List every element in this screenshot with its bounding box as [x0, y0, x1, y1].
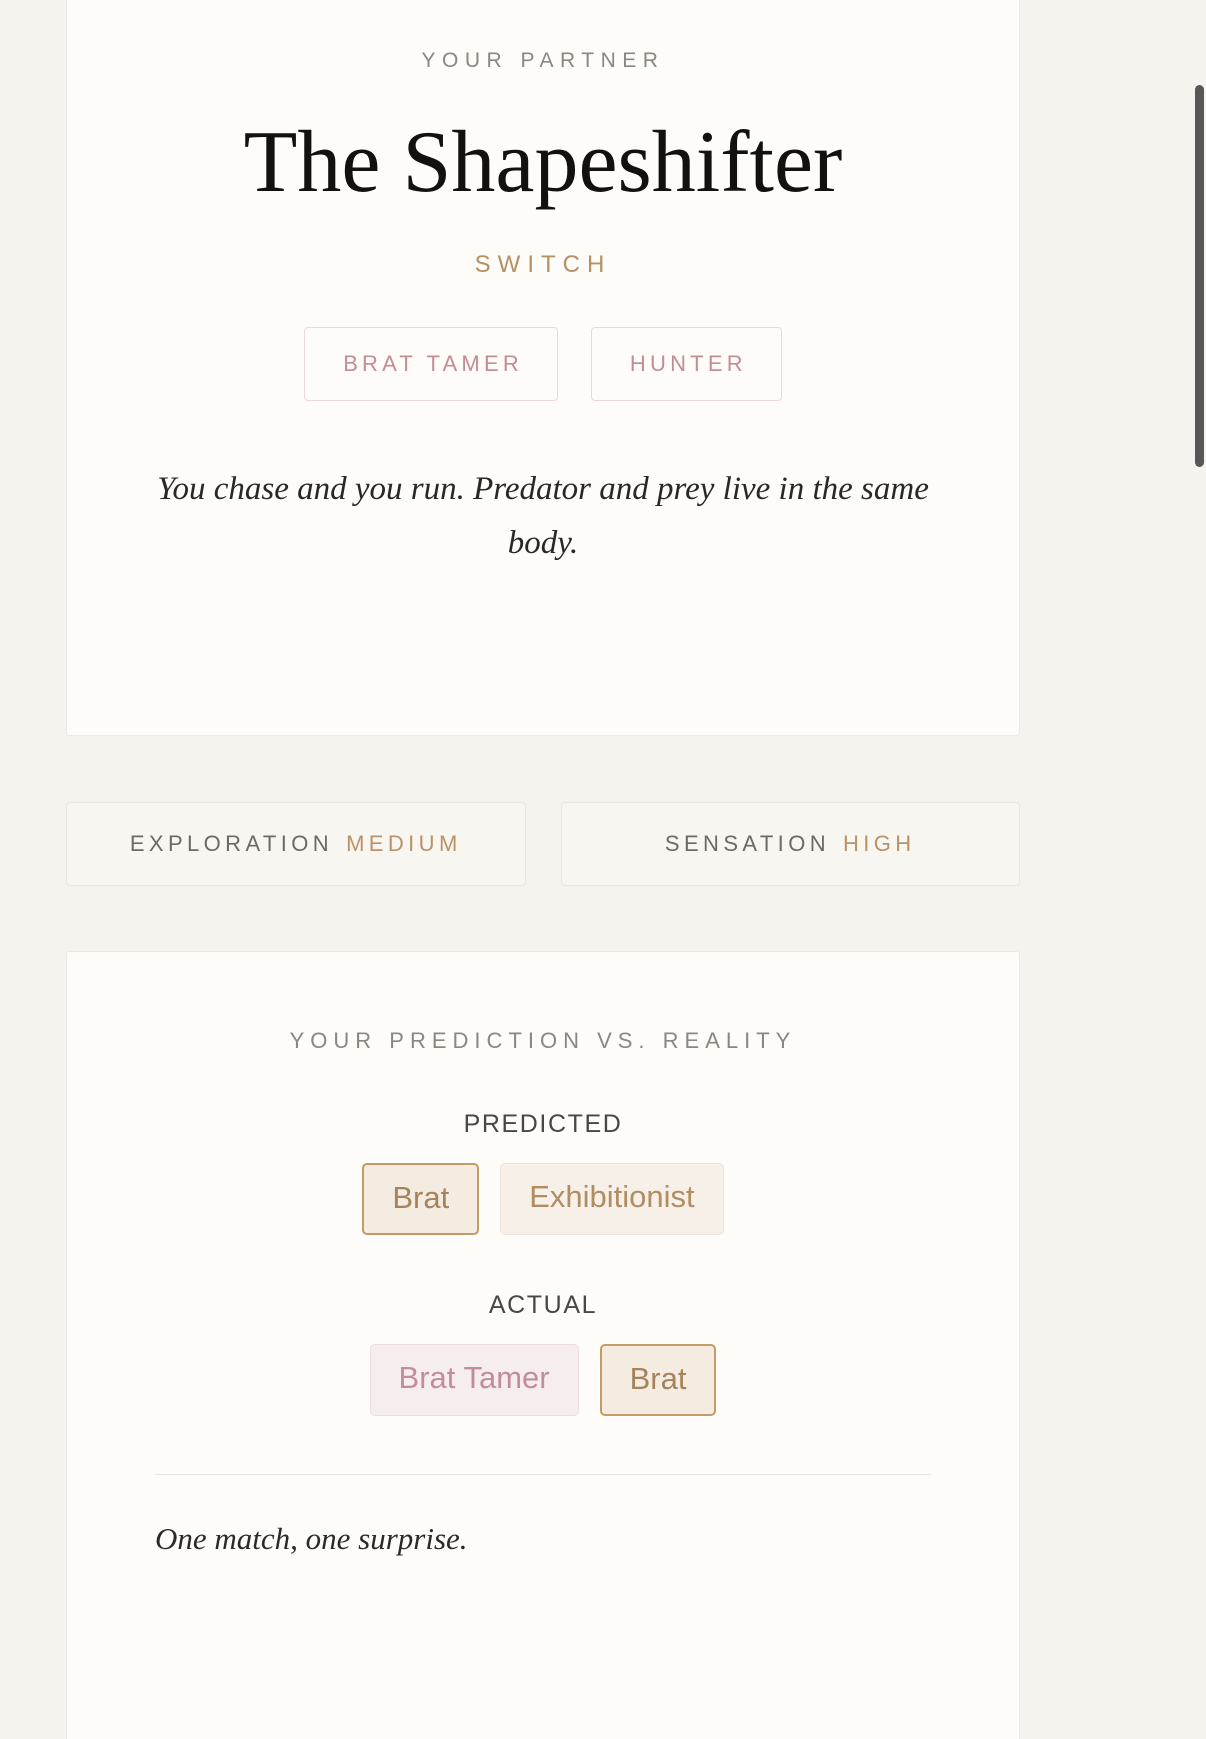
- stat-box-exploration: EXPLORATION MEDIUM: [66, 802, 526, 886]
- prediction-footnote: One match, one surprise.: [155, 1521, 1019, 1557]
- stat-box-sensation: SENSATION HIGH: [561, 802, 1021, 886]
- prediction-card: YOUR PREDICTION VS. REALITY PREDICTED Br…: [66, 951, 1020, 1739]
- stat-label-sensation: SENSATION: [665, 831, 830, 857]
- partner-name: The Shapeshifter: [67, 117, 1019, 209]
- role-chip-brat-tamer[interactable]: BRAT TAMER: [304, 327, 558, 401]
- role-chip-hunter[interactable]: HUNTER: [591, 327, 782, 401]
- partner-role-list: BRAT TAMER HUNTER: [67, 327, 1019, 401]
- actual-chip-brat-tamer[interactable]: Brat Tamer: [370, 1344, 579, 1416]
- scrollbar-track[interactable]: [1193, 0, 1206, 1739]
- actual-chip-row: Brat Tamer Brat: [67, 1344, 1019, 1416]
- partner-archetype: SWITCH: [67, 251, 1019, 279]
- scrollbar-thumb[interactable]: [1195, 85, 1204, 467]
- predicted-chip-brat[interactable]: Brat: [362, 1163, 479, 1235]
- predicted-chip-exhibitionist[interactable]: Exhibitionist: [500, 1163, 723, 1235]
- partner-card: YOUR PARTNER The Shapeshifter SWITCH BRA…: [66, 0, 1020, 736]
- partner-eyebrow: YOUR PARTNER: [67, 49, 1019, 73]
- prediction-divider: [155, 1474, 931, 1475]
- stat-value-sensation: HIGH: [843, 831, 916, 857]
- predicted-chip-row: Brat Exhibitionist: [67, 1163, 1019, 1235]
- partner-quote: You chase and you run. Predator and prey…: [143, 463, 943, 570]
- stat-value-exploration: MEDIUM: [346, 831, 462, 857]
- predicted-label: PREDICTED: [67, 1110, 1019, 1139]
- prediction-heading: YOUR PREDICTION VS. REALITY: [67, 1028, 1019, 1054]
- results-page: YOUR PARTNER The Shapeshifter SWITCH BRA…: [0, 0, 1206, 1739]
- stat-label-exploration: EXPLORATION: [130, 831, 333, 857]
- actual-label: ACTUAL: [67, 1291, 1019, 1320]
- actual-chip-brat[interactable]: Brat: [600, 1344, 717, 1416]
- stat-row: EXPLORATION MEDIUM SENSATION HIGH: [66, 802, 1020, 886]
